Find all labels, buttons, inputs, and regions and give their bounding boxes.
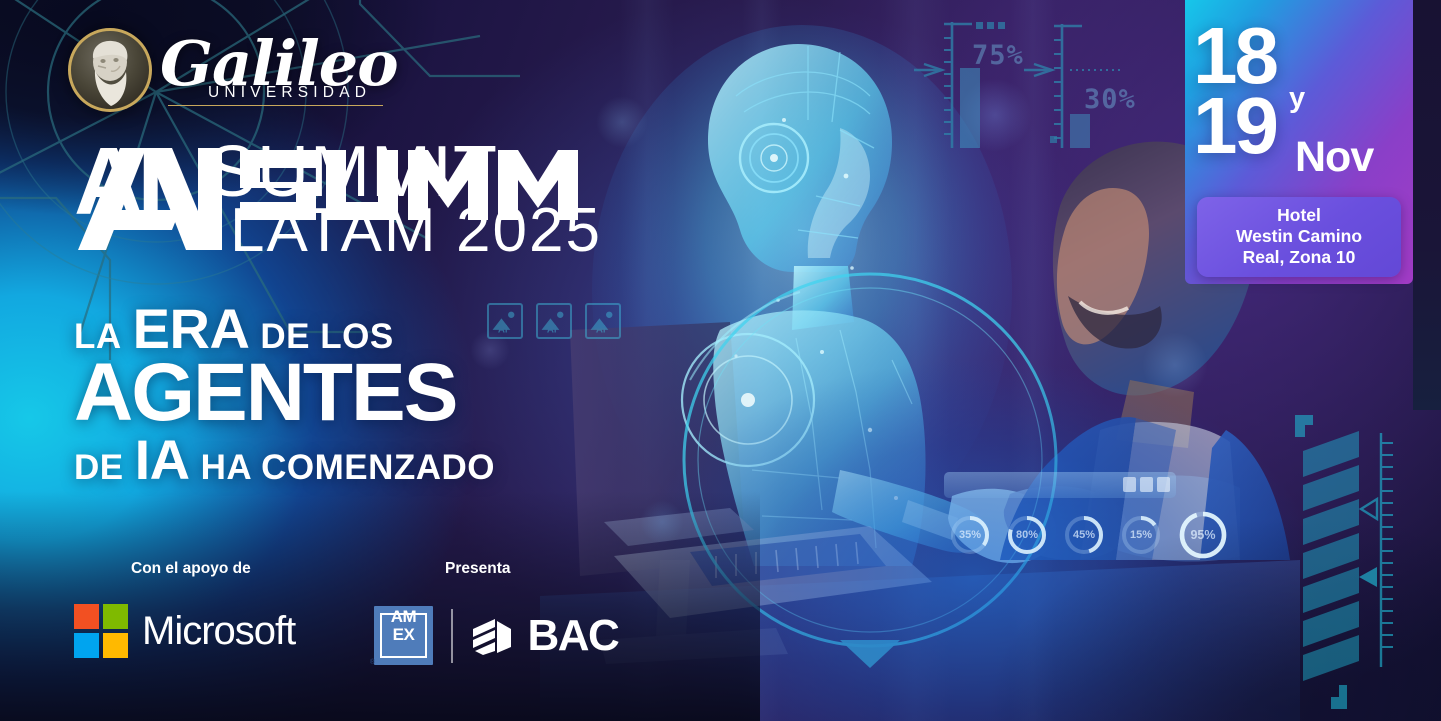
event-banner: 75% 30% 35% 80%: [0, 0, 1441, 721]
venue-line-2: Westin Camino: [1203, 226, 1395, 247]
donut-gauge: 35%: [948, 513, 992, 557]
donut-label: 80%: [1005, 513, 1049, 557]
amex-line-1: AM: [374, 607, 433, 627]
bac-wordmark: BAC: [528, 611, 619, 661]
venue-badge: Hotel Westin Camino Real, Zona 10: [1197, 197, 1401, 277]
hud-donut-gauges: 35% 80% 45% 15%: [948, 508, 1230, 562]
microsoft-wordmark: Microsoft: [142, 609, 295, 654]
toolbar-dot: [1123, 477, 1136, 492]
galileo-bust-portrait-icon: [68, 28, 152, 112]
microsoft-square-green: [103, 604, 128, 629]
bac-logo: BAC: [471, 611, 619, 661]
donut-label: 15%: [1119, 513, 1163, 557]
donut-gauge: 80%: [1005, 513, 1049, 557]
date-month: Nov: [1295, 133, 1373, 182]
support-label: Con el apoyo de: [131, 560, 251, 578]
tagline-line-2: AGENTES: [74, 357, 634, 429]
tagline-agentes: AGENTES: [74, 357, 456, 429]
donut-gauge: 15%: [1119, 513, 1163, 557]
donut-label: 45%: [1062, 513, 1106, 557]
sponsor-logos: Microsoft AM EX ®: [74, 604, 674, 676]
microsoft-square-yellow: [103, 633, 128, 658]
amex-line-2: EX: [374, 625, 433, 645]
right-dark-strip: [1413, 0, 1441, 410]
title-year: 2025: [456, 200, 602, 262]
amex-registered-mark: ®: [370, 659, 375, 666]
donut-gauge: 95%: [1176, 508, 1230, 562]
venue-line-1: Hotel: [1203, 205, 1395, 226]
donut-label: 35%: [948, 513, 992, 557]
presents-label: Presenta: [445, 560, 510, 578]
amex-logo: AM EX ®: [374, 606, 433, 665]
date-block: 18 19 y Nov: [1185, 0, 1413, 158]
date-day-18: 18: [1193, 24, 1276, 88]
sponsor-divider: [451, 609, 453, 663]
bac-mark-icon: [471, 613, 517, 659]
sponsor-labels: Con el apoyo de Presenta: [74, 560, 674, 584]
decorative-stripes: [1289, 415, 1419, 715]
event-title: AI SUMMIT LATAM 2025: [72, 138, 672, 258]
title-ai: AI: [74, 134, 158, 230]
galileo-logo: Galileo UNIVERSIDAD: [68, 28, 398, 112]
microsoft-square-blue: [74, 633, 99, 658]
microsoft-logo: Microsoft: [74, 604, 295, 658]
presenting-sponsor-logos: AM EX ® BAC: [374, 606, 618, 665]
toolbar-dot: [1140, 477, 1153, 492]
sponsors-section: Con el apoyo de Presenta Microsoft AM EX: [74, 560, 674, 676]
toolbar-dot: [1157, 477, 1170, 492]
date-row-1: 18: [1193, 24, 1413, 88]
university-subtitle: UNIVERSIDAD: [208, 84, 398, 102]
toolbar-dots: [1123, 477, 1170, 492]
venue-line-3: Real, Zona 10: [1203, 247, 1395, 268]
title-latam: LATAM: [230, 200, 438, 262]
event-tagline: LA ERA DE LOS AGENTES DE IA HA COMENZADO: [74, 296, 634, 492]
logo-underline: [168, 105, 383, 107]
date-conjunction: y: [1289, 82, 1305, 115]
tagline-ha-comenzado: HA COMENZADO: [201, 448, 495, 488]
tagline-ia: IA: [135, 427, 190, 492]
donut-label: 95%: [1176, 508, 1230, 562]
date-day-19: 19: [1193, 94, 1276, 158]
microsoft-squares-icon: [74, 604, 128, 658]
date-panel: 18 19 y Nov Hotel Westin Camino Real, Zo…: [1185, 0, 1413, 284]
bar-gauge-label-30: 30%: [1084, 84, 1136, 115]
tagline-de: DE: [74, 448, 124, 488]
donut-gauge: 45%: [1062, 513, 1106, 557]
microsoft-square-red: [74, 604, 99, 629]
hud-toolbar: [944, 472, 1176, 498]
bar-gauge-label-75: 75%: [972, 40, 1024, 71]
